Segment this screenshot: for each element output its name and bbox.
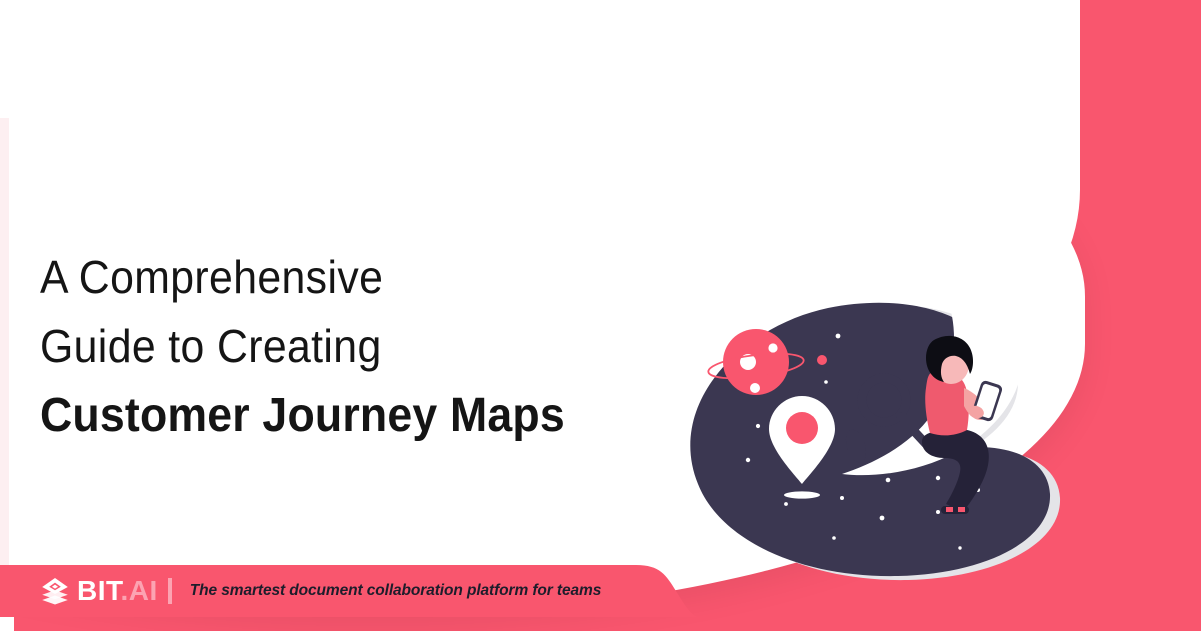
logo-text-dot: . (121, 575, 129, 606)
space-blob-person-illustration (660, 288, 1080, 584)
title-line-2: Guide to Creating (40, 312, 635, 381)
page-title: A Comprehensive Guide to Creating Custom… (40, 243, 680, 450)
map-pin-dot (786, 412, 818, 444)
logo-text-secondary: AI (129, 575, 158, 606)
pink-top-band (0, 0, 1201, 118)
stacked-layers-icon (40, 576, 70, 606)
planet-crater-2 (768, 343, 777, 352)
footer-bar: BIT.AI The smartest document collaborati… (0, 565, 700, 617)
left-pink-tint-strip (0, 118, 9, 568)
map-pin-shadow (784, 491, 820, 498)
bit-ai-logo-text: BIT.AI (77, 577, 158, 605)
footer-content: BIT.AI The smartest document collaborati… (40, 565, 601, 617)
planet-crater-3 (750, 383, 760, 393)
footer-tagline: The smartest document collaboration plat… (190, 582, 601, 600)
left-white-edge (0, 0, 14, 631)
title-line-1: A Comprehensive (40, 243, 635, 312)
title-line-3: Customer Journey Maps (40, 381, 635, 450)
logo-text-primary: BIT (77, 575, 121, 606)
star-coral (817, 355, 827, 365)
promo-banner: A Comprehensive Guide to Creating Custom… (0, 0, 1201, 631)
logo-divider (168, 578, 172, 604)
